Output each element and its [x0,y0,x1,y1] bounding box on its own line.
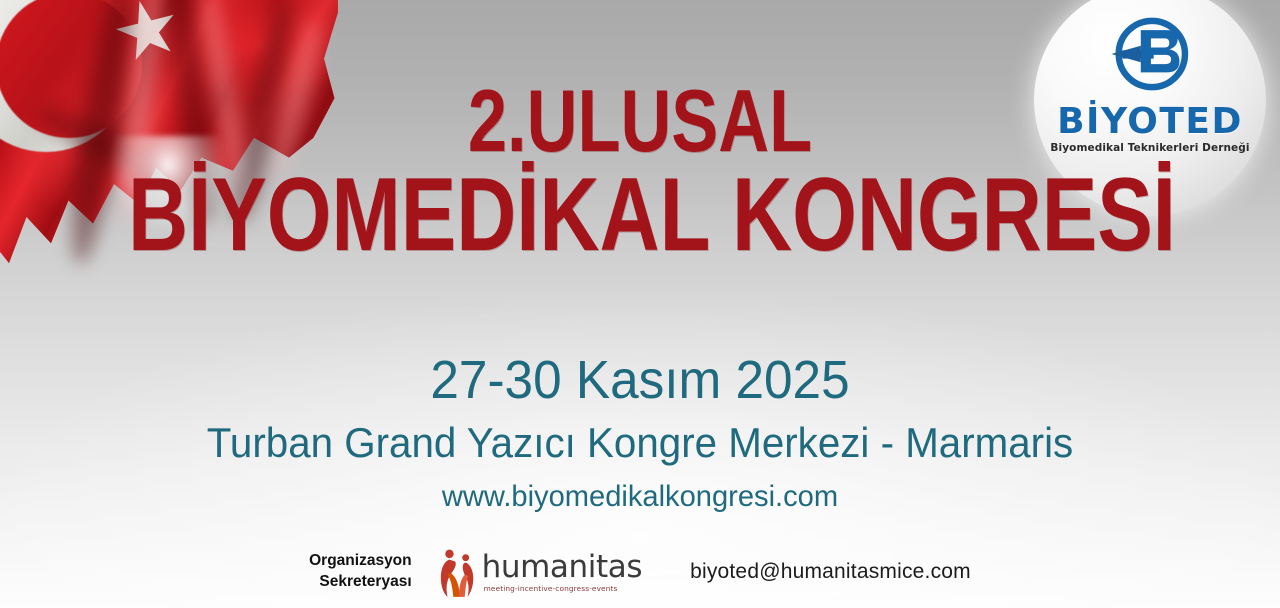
organizer-label-line1: Organizasyon [309,551,412,572]
humanitas-wordmark: humanitas [482,552,642,583]
organizer-label: Organizasyon Sekreteryası [309,551,412,593]
event-website-link[interactable]: www.biyomedikalkongresi.com [19,480,1261,513]
humanitas-tagline: meeting-incentive-congress-events [484,584,618,593]
congress-banner: BİYOTED Biyomedikal Teknikerleri Derneği… [0,0,1280,608]
flag-cloth [0,0,338,316]
event-date: 27-30 Kasım 2025 [32,352,1248,408]
biyoted-logo: BİYOTED Biyomedikal Teknikerleri Derneği [1034,0,1266,216]
humanitas-people-icon [438,546,480,598]
organizer-label-line2: Sekreteryası [309,572,412,593]
event-venue: Turban Grand Yazıcı Kongre Merkezi - Mar… [26,420,1255,465]
humanitas-text: humanitas meeting-incentive-congress-eve… [482,552,642,593]
event-info: 27-30 Kasım 2025 Turban Grand Yazıcı Kon… [0,352,1280,513]
biyoted-b-emblem-icon [1104,8,1196,100]
footer: Organizasyon Sekreteryası humanitas meet… [0,546,1280,598]
humanitas-logo: humanitas meeting-incentive-congress-eve… [438,546,642,598]
turkish-flag [0,0,338,316]
biyoted-wordmark: BİYOTED [1057,104,1243,140]
contact-email[interactable]: biyoted@humanitasmice.com [690,560,971,584]
flag-edge-glow [108,136,258,296]
biyoted-subtitle: Biyomedikal Teknikerleri Derneği [1050,143,1249,154]
